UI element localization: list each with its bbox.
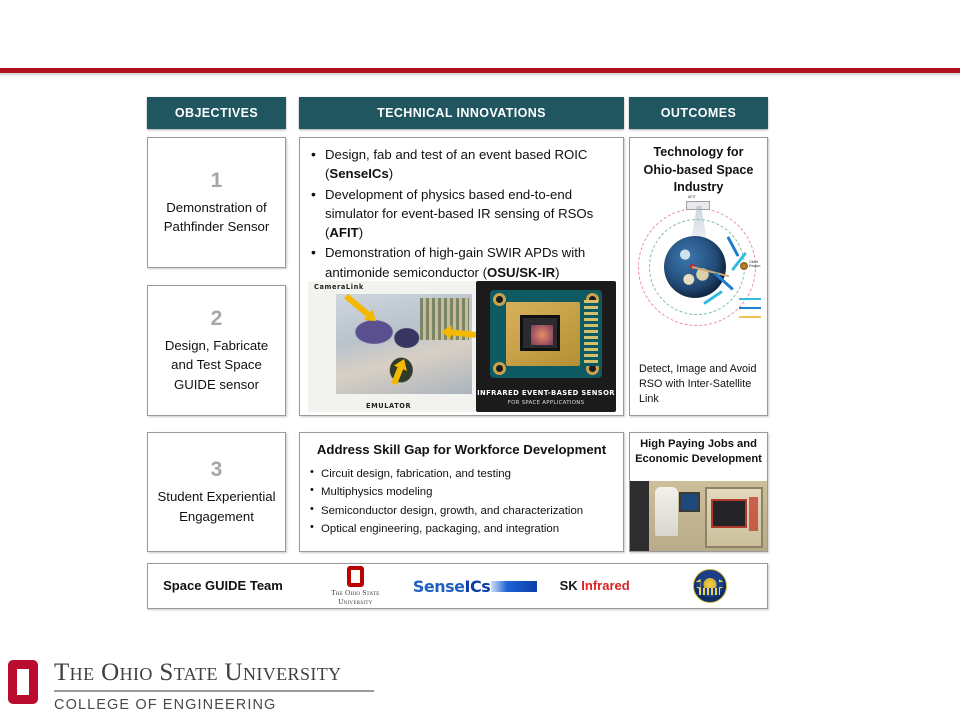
workforce-bullet-1: Circuit design, fabrication, and testing — [310, 465, 613, 483]
infrared-sensor-caption-sub: FOR SPACE APPLICATIONS — [476, 400, 616, 406]
column-header-objectives: OBJECTIVES — [147, 97, 286, 129]
outcome-box-jobs: High Paying Jobs and Economic Developmen… — [629, 432, 768, 552]
workforce-bullet-list: Circuit design, fabrication, and testing… — [310, 465, 613, 539]
air-force-seal-icon — [693, 569, 727, 603]
infrared-sensor-photo: INFRARED EVENT-BASED SENSOR FOR SPACE AP… — [476, 281, 616, 412]
sensor-gold-package — [506, 302, 580, 366]
board-pin-header — [584, 300, 598, 366]
ti-3-post: ) — [555, 265, 559, 280]
objective-number-3: 3 — [211, 458, 223, 481]
senseics-text-b: ICs — [465, 577, 491, 596]
logo-senseics: SenseICs — [413, 577, 537, 596]
cleanroom-monitor — [679, 492, 700, 512]
osu-logo-line2: University — [338, 598, 372, 606]
column-header-technical-innovations: TECHNICAL INNOVATIONS — [299, 97, 624, 129]
outcome-technology-title: Technology for Ohio-based Space Industry — [637, 144, 760, 197]
board-hole-tl — [493, 293, 506, 306]
camera-link-label: CameraLink — [314, 283, 364, 291]
logo-sk-infrared: SK Infrared — [537, 577, 652, 595]
technical-innovations-photo-strip: CameraLink EMULATOR INFRA — [308, 281, 616, 412]
emulator-label: EMULATOR — [366, 402, 411, 410]
infrared-sensor-caption-main: INFRARED EVENT-BASED SENSOR — [476, 389, 616, 397]
workforce-bullet-2: Multiphysics modeling — [310, 483, 613, 501]
technical-innovations-bullet-list: Design, fab and test of an event based R… — [308, 145, 615, 282]
sensor-die — [520, 315, 560, 351]
board-hole-bl — [493, 362, 506, 375]
ti-2-post: ) — [359, 225, 363, 240]
senseics-swoosh-icon — [491, 581, 537, 592]
space-orbit-graphic: AFIT Client Region — [636, 200, 763, 330]
sk-infrared-text-b: Infrared — [581, 578, 629, 593]
fabrication-tool — [705, 487, 763, 549]
osu-logo-line1: The Ohio State — [331, 589, 379, 597]
cleanroom-photo — [630, 481, 767, 551]
outcome-jobs-title: High Paying Jobs and Economic Developmen… — [630, 433, 767, 469]
objective-box-2: 2 Design, Fabricate and Test Space GUIDE… — [147, 285, 286, 416]
footer-divider — [54, 690, 374, 691]
ti-1-post: ) — [389, 166, 393, 181]
footer-line1: The Ohio State University — [54, 660, 374, 686]
ti-2-bold: AFIT — [329, 225, 358, 240]
footer-osu-engineering-logo: The Ohio State University COLLEGE OF ENG… — [6, 660, 426, 718]
technical-innovation-bullet-3: Demonstration of high-gain SWIR APDs wit… — [308, 243, 615, 282]
workforce-bullet-3: Semiconductor design, growth, and charac… — [310, 502, 613, 520]
workforce-development-box: Address Skill Gap for Workforce Developm… — [299, 432, 624, 552]
logo-the-ohio-state-university: The Ohio State University — [298, 566, 413, 605]
outcome-box-technology: Technology for Ohio-based Space Industry… — [629, 137, 768, 416]
emulator-photo: CameraLink EMULATOR — [308, 281, 478, 412]
slide-canvas: OBJECTIVES TECHNICAL INNOVATIONS OUTCOME… — [0, 0, 960, 720]
rso-icon — [740, 262, 748, 270]
ground-sensor-label: AFIT — [688, 195, 696, 199]
objective-box-3: 3 Student Experiential Engagement — [147, 432, 286, 552]
team-bar: Space GUIDE Team The Ohio State Universi… — [147, 563, 768, 609]
legend-swatch-1 — [739, 298, 761, 300]
technical-innovations-box: Design, fab and test of an event based R… — [299, 137, 624, 416]
column-header-objectives-label: OBJECTIVES — [175, 106, 258, 120]
legend-swatch-2 — [739, 307, 761, 309]
ti-3-bold: OSU/SK-IR — [487, 265, 555, 280]
objective-text-1: Demonstration of Pathfinder Sensor — [148, 198, 285, 236]
legend-swatch-3 — [739, 316, 761, 318]
footer-line2: COLLEGE OF ENGINEERING — [54, 697, 374, 713]
cleanroom-technician — [655, 487, 678, 536]
column-header-outcomes: OUTCOMES — [629, 97, 768, 129]
rso-label: Client Region — [749, 260, 763, 269]
sensor-board-graphic — [490, 290, 602, 378]
ti-2-pre: Development of physics based end-to-end … — [325, 187, 593, 241]
top-accent-rule-shadow — [0, 73, 960, 77]
technical-innovation-bullet-1: Design, fab and test of an event based R… — [308, 145, 615, 184]
column-header-technical-innovations-label: TECHNICAL INNOVATIONS — [377, 106, 546, 120]
outcome-technology-caption: Detect, Image and Avoid RSO with Inter-S… — [639, 362, 760, 407]
technical-innovation-bullet-2: Development of physics based end-to-end … — [308, 185, 615, 243]
osu-o-icon — [347, 566, 364, 587]
objective-box-1: 1 Demonstration of Pathfinder Sensor — [147, 137, 286, 268]
objective-number-1: 1 — [211, 169, 223, 192]
objective-text-2: Design, Fabricate and Test Space GUIDE s… — [148, 336, 285, 393]
senseics-text-a: Sense — [413, 577, 465, 596]
workforce-bullet-4: Optical engineering, packaging, and inte… — [310, 520, 613, 538]
ti-1-bold: SenseICs — [329, 166, 388, 181]
logo-us-air-force — [652, 569, 767, 603]
workforce-title: Address Skill Gap for Workforce Developm… — [310, 441, 613, 459]
sk-infrared-text-a: SK — [560, 578, 582, 593]
air-force-wings-icon — [696, 579, 724, 589]
column-header-outcomes-label: OUTCOMES — [661, 106, 736, 120]
objective-number-2: 2 — [211, 307, 223, 330]
objective-text-3: Student Experiential Engagement — [148, 487, 285, 525]
osu-footer-o-icon — [8, 660, 38, 704]
team-label: Space GUIDE Team — [148, 577, 298, 595]
